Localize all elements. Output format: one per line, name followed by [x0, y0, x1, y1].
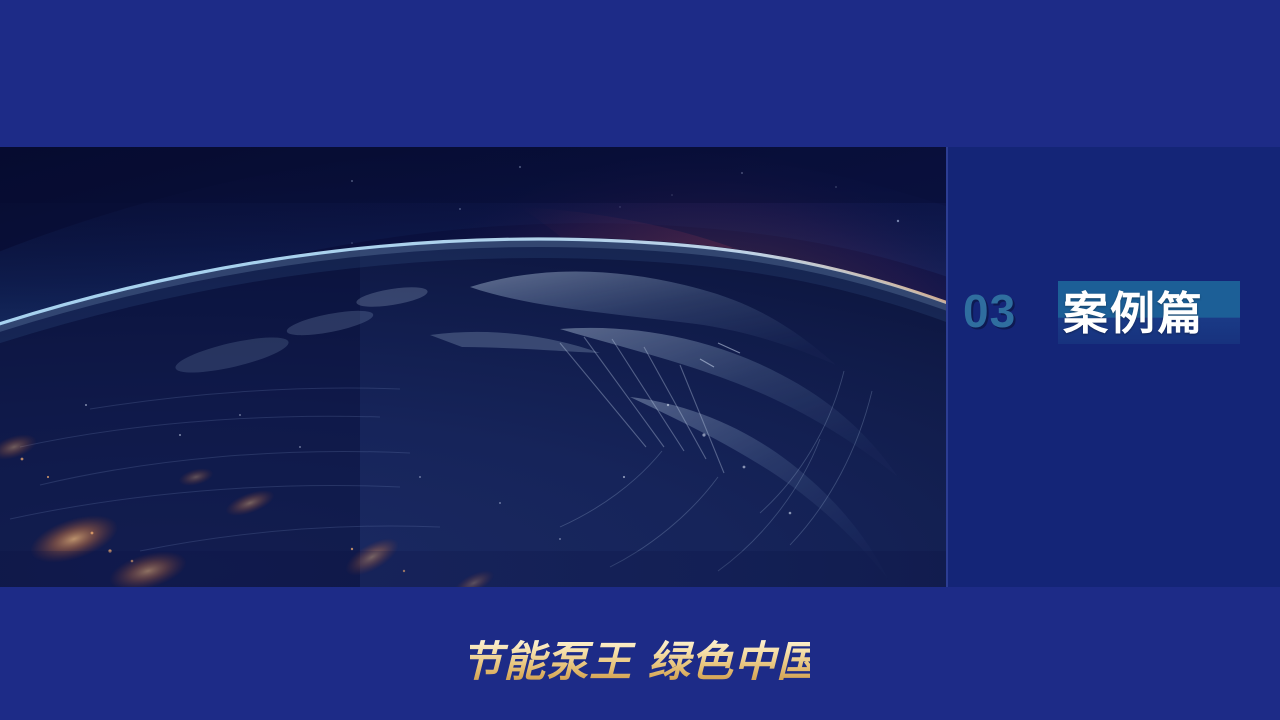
section-side-panel — [946, 147, 1280, 587]
footer-slogan: 节能泵王 绿色中国 — [0, 630, 1280, 697]
section-number: 03 — [963, 288, 1016, 334]
earth-from-space-image — [0, 147, 946, 587]
header-band — [0, 0, 1280, 147]
panel-divider-rule — [946, 147, 948, 587]
presentation-slide: CNP 南方泵业 — [0, 0, 1280, 720]
footer-slogan-text: 节能泵王 绿色中国 — [470, 637, 810, 686]
section-title: 案例篇 — [1063, 286, 1243, 342]
